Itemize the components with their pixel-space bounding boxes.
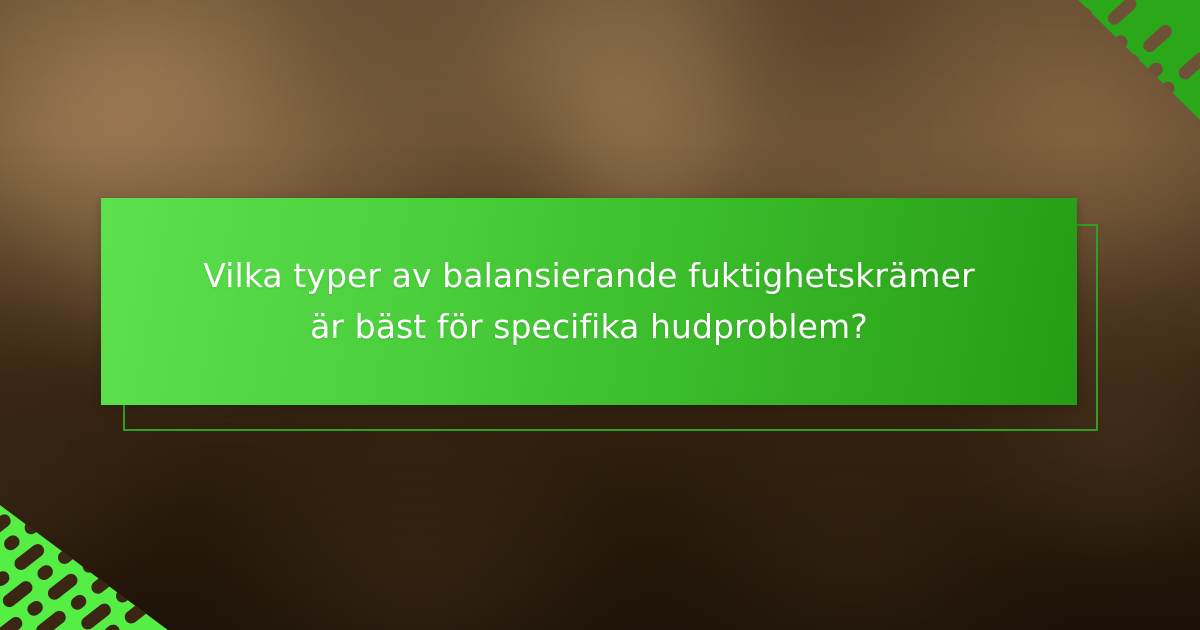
page-title: Vilka typer av balansierande fuktighetsk… <box>203 251 975 351</box>
page-title-line-1: Vilka typer av balansierande fuktighetsk… <box>203 251 975 301</box>
page-title-line-2: är bäst för specifika hudproblem? <box>203 302 975 352</box>
headline-card: Vilka typer av balansierande fuktighetsk… <box>101 198 1077 405</box>
social-card-canvas: Vilka typer av balansierande fuktighetsk… <box>0 0 1200 630</box>
